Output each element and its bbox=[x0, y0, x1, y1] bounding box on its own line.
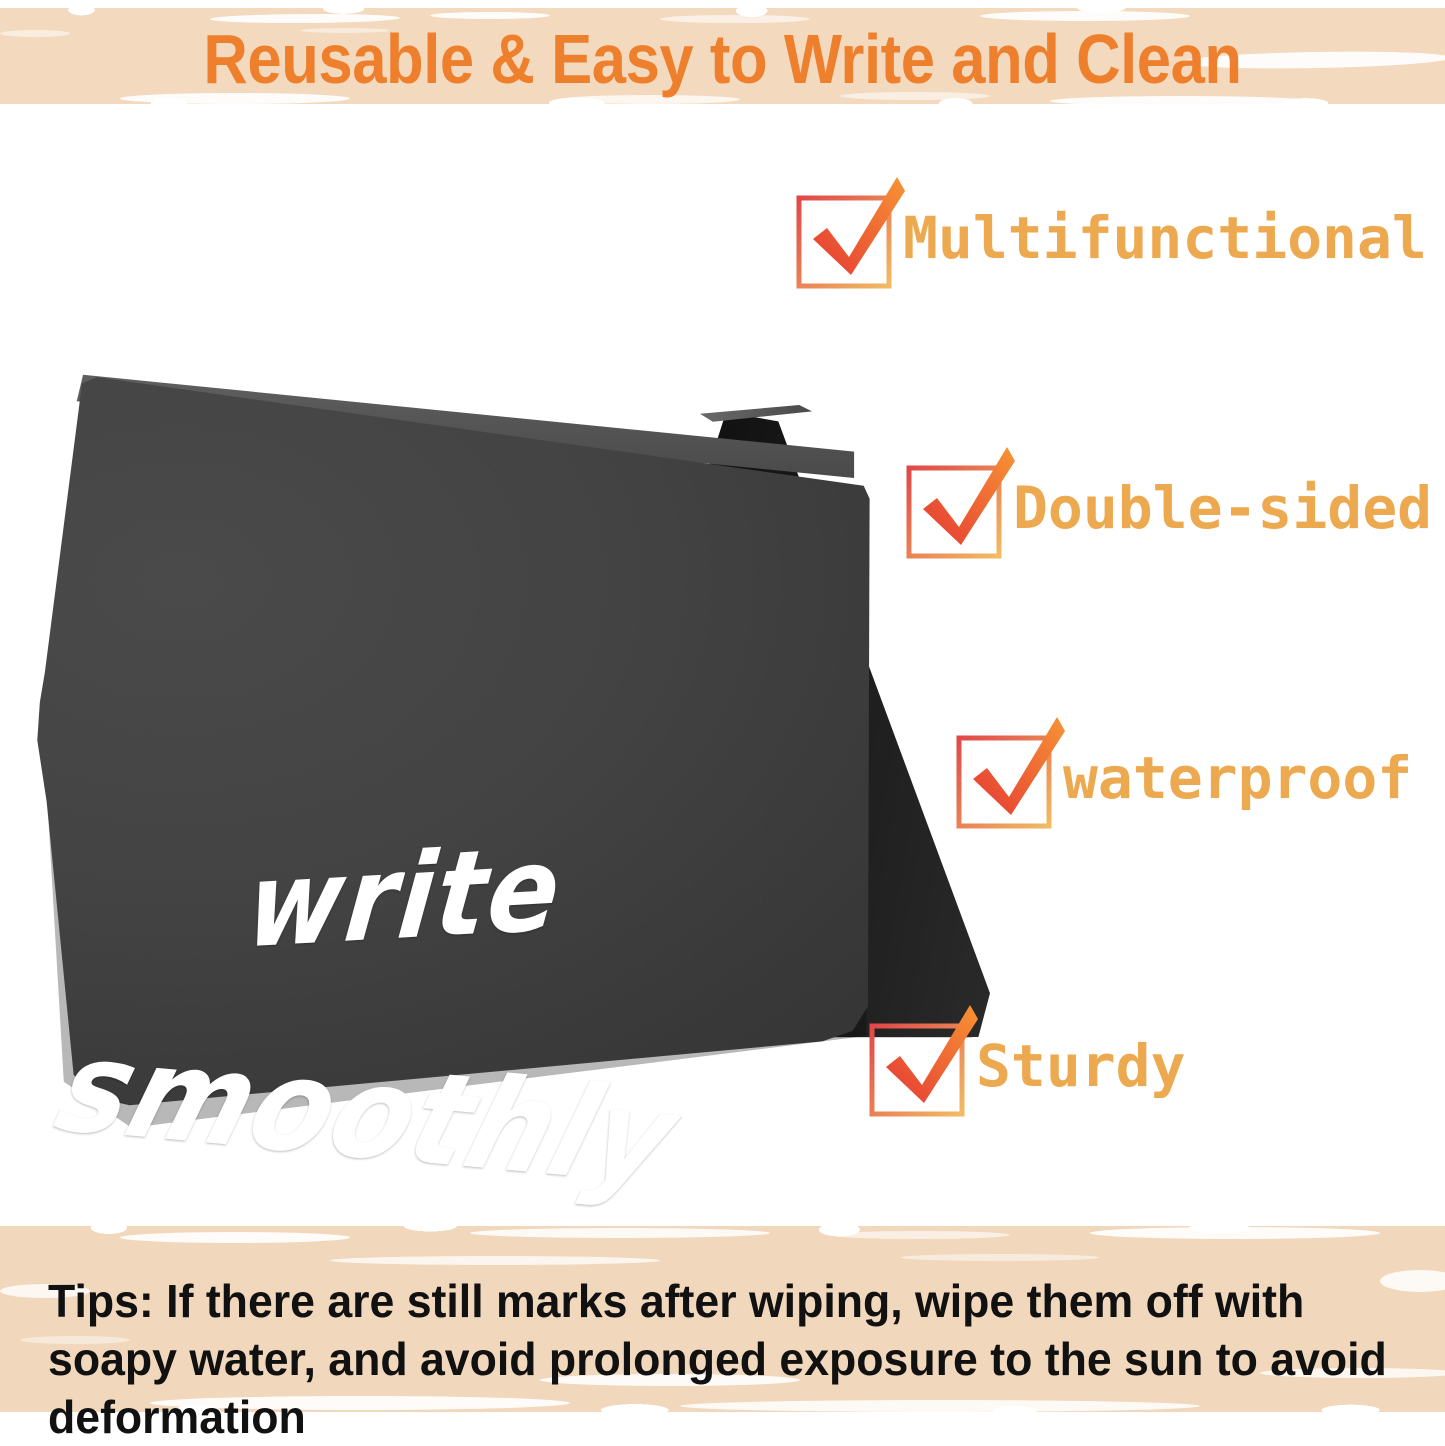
brush-texture-streak bbox=[330, 1256, 660, 1265]
header-banner: Reusable & Easy to Write and Clean bbox=[0, 0, 1445, 118]
footer-banner: Tips: If there are still marks after wip… bbox=[0, 1218, 1445, 1418]
checkbox-checked-icon bbox=[793, 183, 905, 293]
brush-texture-streak bbox=[120, 1232, 350, 1243]
checkbox-checked-icon bbox=[953, 723, 1065, 833]
tips-text: Tips: If there are still marks after wip… bbox=[48, 1272, 1396, 1446]
brush-texture-streak bbox=[900, 1254, 1100, 1261]
sign-front-writing-surface bbox=[28, 368, 873, 1128]
brush-texture-streak bbox=[830, 1231, 1010, 1239]
feature-item-multifunctional[interactable]: Multifunctional bbox=[793, 183, 1427, 293]
feature-item-waterproof[interactable]: waterproof bbox=[953, 723, 1412, 833]
tent-chalkboard-sign: write smoothly bbox=[0, 330, 980, 1160]
product-image: write smoothly bbox=[0, 330, 980, 1160]
brush-texture-streak bbox=[1090, 1227, 1380, 1239]
feature-label: Multifunctional bbox=[903, 208, 1427, 268]
feature-label: Double-sided bbox=[1013, 478, 1432, 538]
brush-texture-streak bbox=[470, 1228, 770, 1238]
feature-label: Sturdy bbox=[976, 1036, 1186, 1096]
feature-item-double-sided[interactable]: Double-sided bbox=[903, 453, 1432, 563]
brush-texture-streak bbox=[0, 30, 70, 37]
brush-texture-streak bbox=[430, 12, 550, 19]
feature-label: waterproof bbox=[1063, 748, 1412, 808]
checkbox-checked-icon bbox=[866, 1011, 978, 1121]
feature-item-sturdy[interactable]: Sturdy bbox=[866, 1011, 1186, 1121]
page-title: Reusable & Easy to Write and Clean bbox=[87, 24, 1359, 94]
checkbox-checked-icon bbox=[903, 453, 1015, 563]
